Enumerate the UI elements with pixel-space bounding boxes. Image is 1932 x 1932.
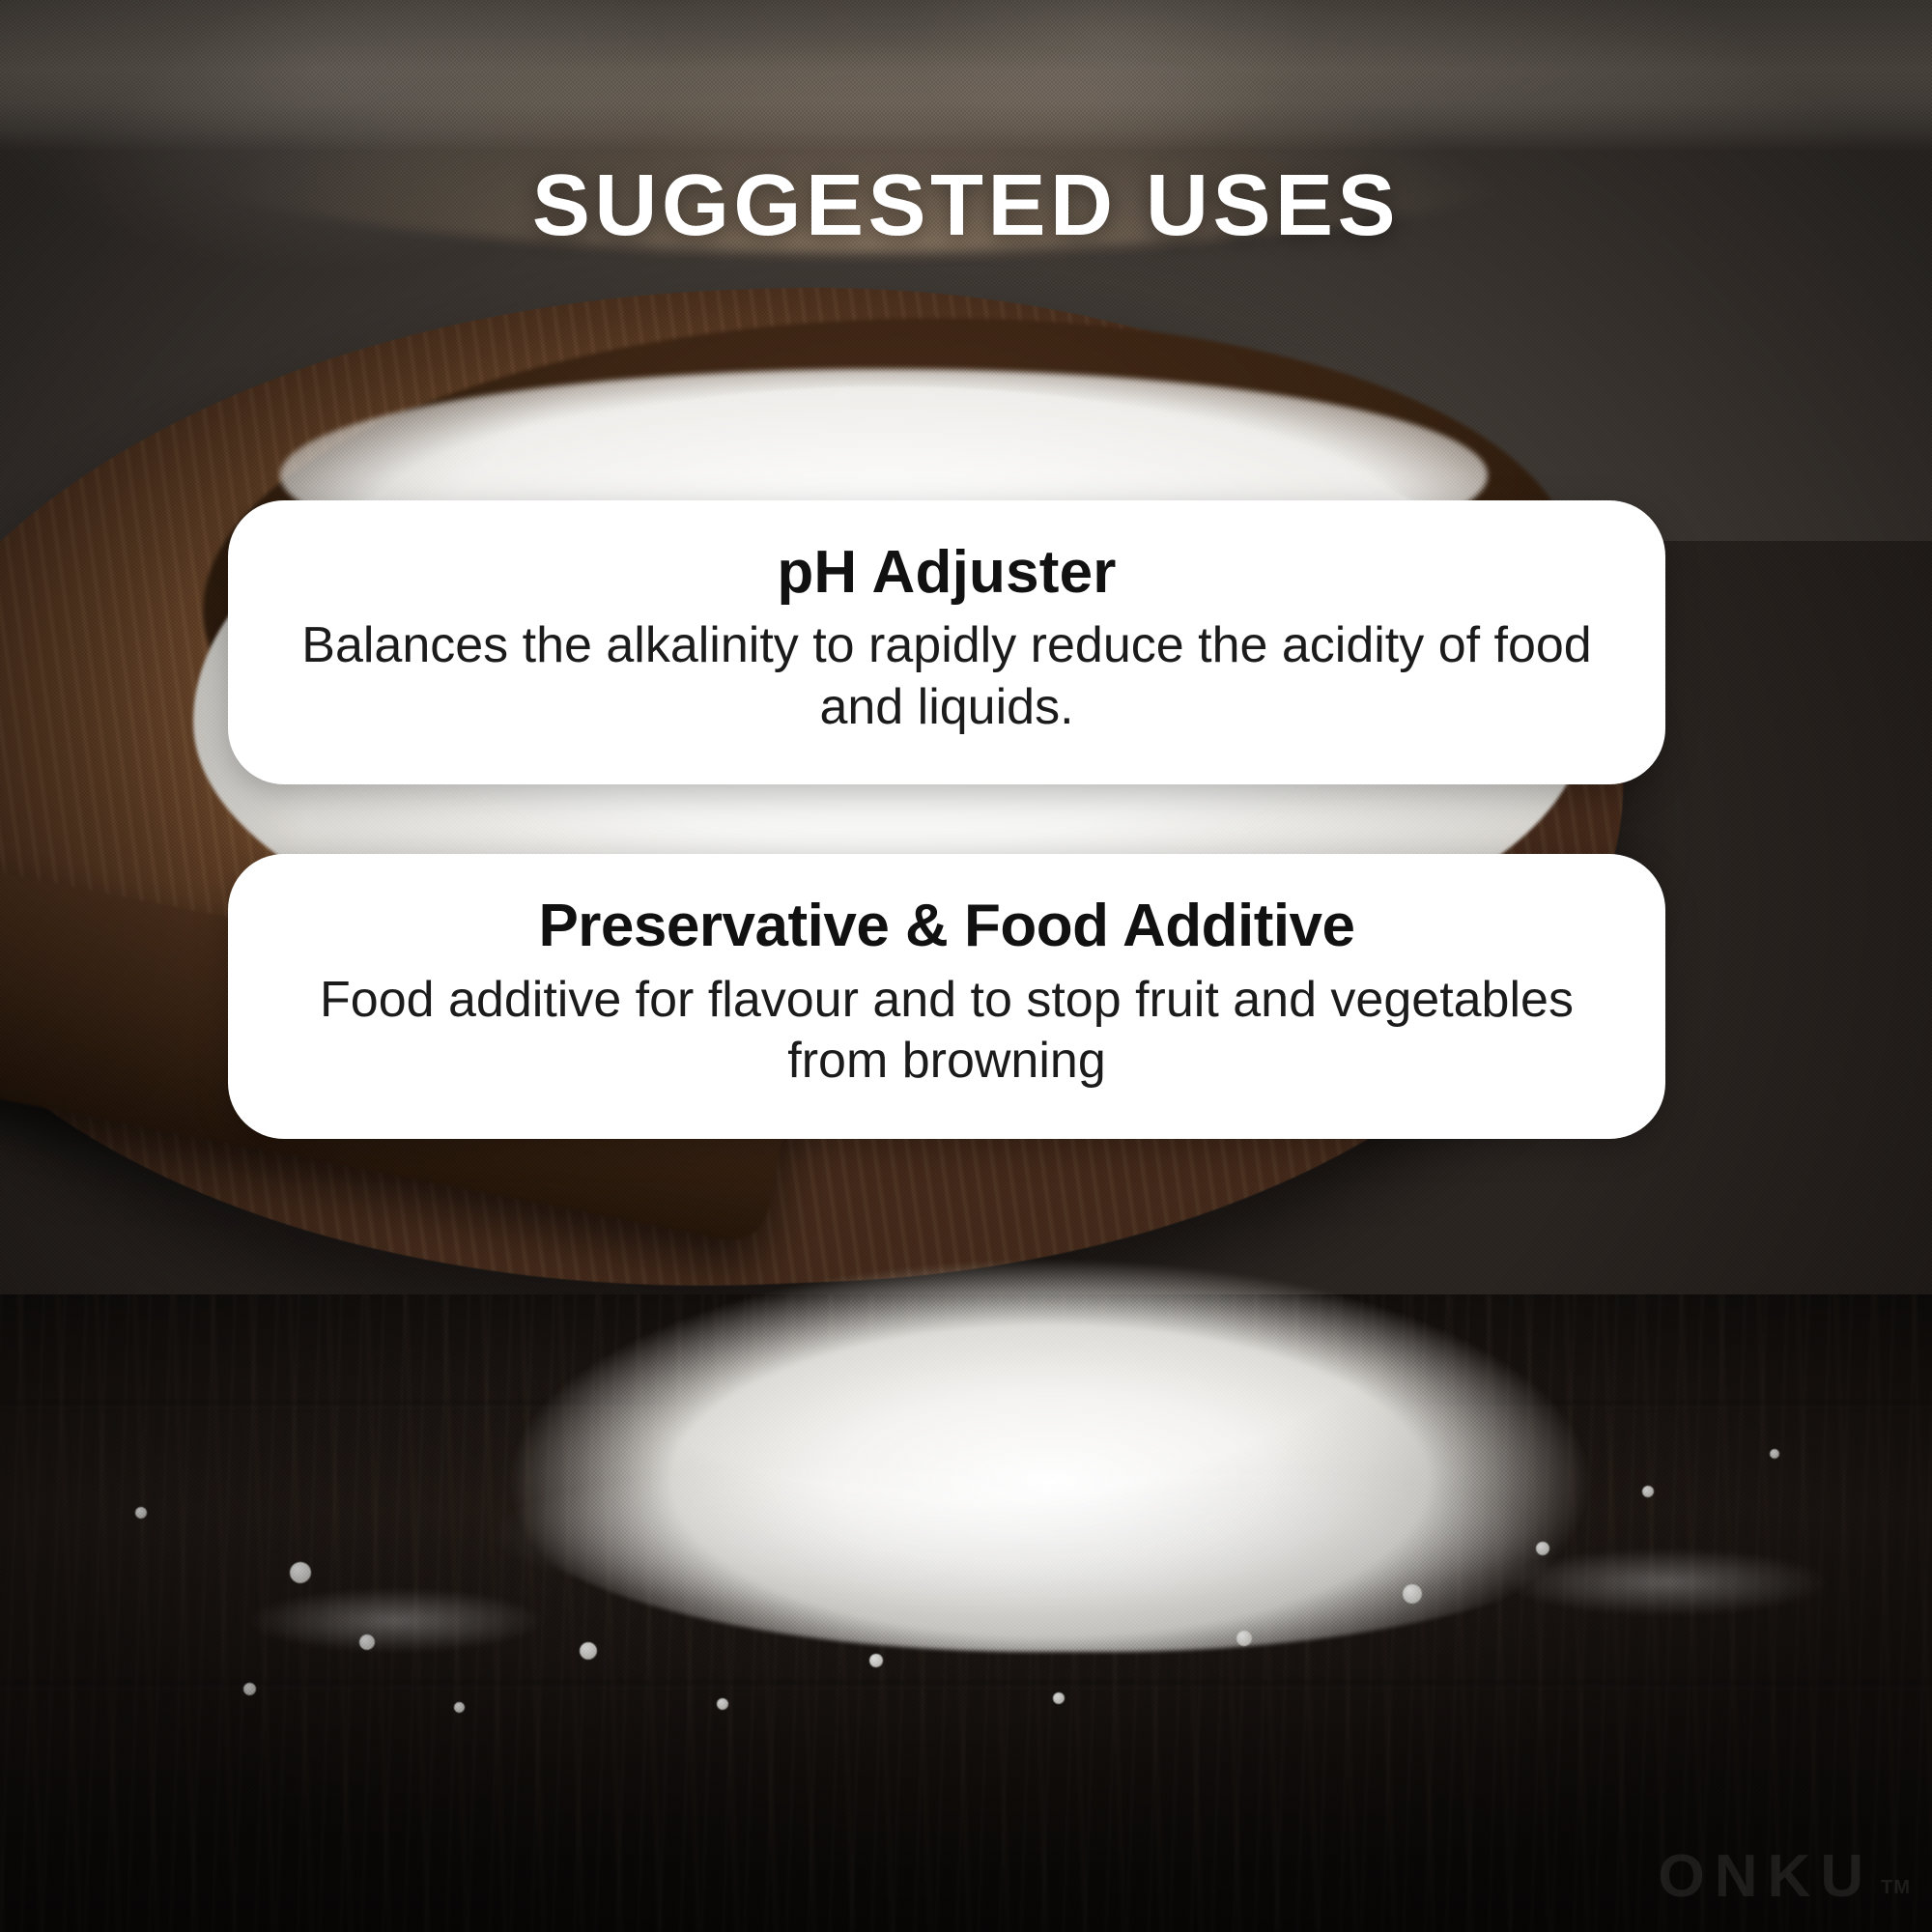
- salt-grain: [359, 1634, 375, 1650]
- suggested-uses-card-list: pH Adjuster Balances the alkalinity to r…: [228, 500, 1665, 1139]
- salt-grain: [135, 1507, 147, 1519]
- salt-grain: [580, 1642, 597, 1660]
- use-card-ph-adjuster: pH Adjuster Balances the alkalinity to r…: [228, 500, 1665, 784]
- salt-grain: [454, 1702, 465, 1713]
- card-heading: Preservative & Food Additive: [280, 893, 1613, 959]
- card-description: Food additive for flavour and to stop fr…: [280, 970, 1613, 1093]
- salt-grain: [290, 1562, 311, 1583]
- salt-grain: [1770, 1449, 1779, 1459]
- salt-grain: [1053, 1692, 1065, 1704]
- salt-grain: [1536, 1542, 1549, 1555]
- watermark-brand-text: ONKU: [1659, 1847, 1874, 1907]
- card-description: Balances the alkalinity to rapidly reduc…: [280, 615, 1613, 738]
- scattered-salt-grains: [155, 1391, 1874, 1710]
- suggested-uses-graphic: SUGGESTED USES pH Adjuster Balances the …: [0, 0, 1932, 1932]
- brand-watermark: ONKU TM: [1659, 1847, 1911, 1907]
- trademark-symbol: TM: [1881, 1878, 1911, 1907]
- salt-grain: [1403, 1584, 1422, 1604]
- use-card-preservative-food-additive: Preservative & Food Additive Food additi…: [228, 854, 1665, 1138]
- card-heading: pH Adjuster: [280, 539, 1613, 606]
- salt-grain: [869, 1654, 883, 1667]
- salt-grain: [243, 1683, 256, 1695]
- salt-grain: [1642, 1486, 1654, 1497]
- salt-grain: [717, 1698, 728, 1710]
- salt-grain: [1236, 1631, 1252, 1646]
- page-title: SUGGESTED USES: [0, 162, 1932, 249]
